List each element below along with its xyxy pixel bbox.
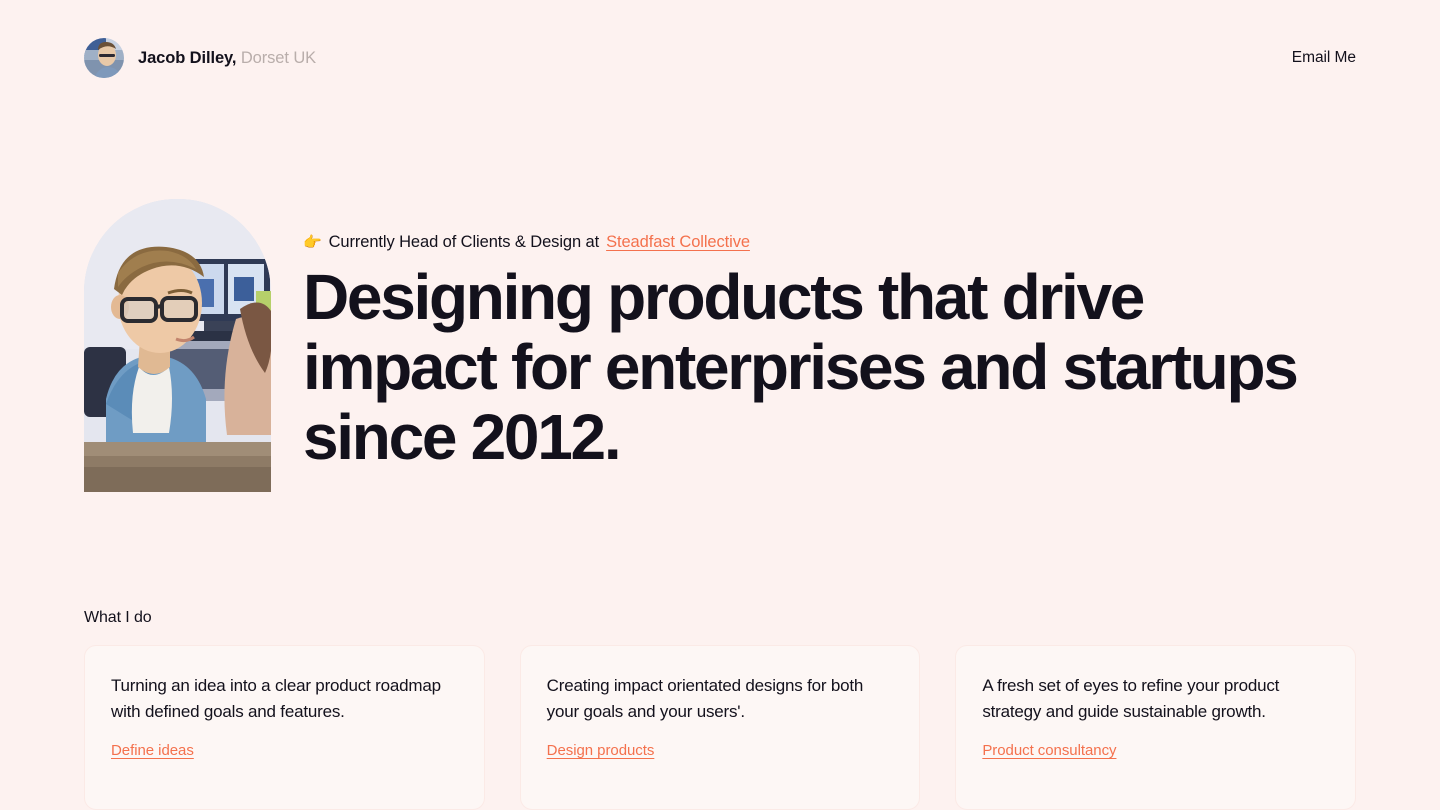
hero-copy: 👉 Currently Head of Clients & Design at … — [303, 199, 1356, 472]
design-products-link[interactable]: Design products — [547, 742, 655, 759]
steadfast-collective-link[interactable]: Steadfast Collective — [606, 232, 750, 253]
identity-block[interactable]: Jacob Dilley, Dorset UK — [84, 38, 316, 78]
site-header: Jacob Dilley, Dorset UK Email Me — [84, 38, 1356, 78]
pointing-hand-icon: 👉 — [303, 235, 322, 250]
service-card-text: Turning an idea into a clear product roa… — [111, 673, 458, 724]
hero-eyebrow-text: Currently Head of Clients & Design at — [329, 232, 600, 253]
define-ideas-link[interactable]: Define ideas — [111, 742, 194, 759]
avatar — [84, 38, 124, 78]
what-i-do-cards: Turning an idea into a clear product roa… — [84, 645, 1356, 810]
service-card-design-products[interactable]: Creating impact orientated designs for b… — [520, 645, 921, 810]
page-title: Designing products that drive impact for… — [303, 262, 1313, 472]
identity-text: Jacob Dilley, Dorset UK — [138, 49, 316, 68]
hero-photo — [84, 199, 271, 492]
email-me-link[interactable]: Email Me — [1292, 49, 1356, 67]
service-card-text: A fresh set of eyes to refine your produ… — [982, 673, 1329, 724]
identity-location: Dorset UK — [241, 49, 316, 67]
service-card-define-ideas[interactable]: Turning an idea into a clear product roa… — [84, 645, 485, 810]
service-card-text: Creating impact orientated designs for b… — [547, 673, 894, 724]
identity-name: Jacob Dilley, — [138, 49, 236, 67]
service-card-product-consultancy[interactable]: A fresh set of eyes to refine your produ… — [955, 645, 1356, 810]
product-consultancy-link[interactable]: Product consultancy — [982, 742, 1116, 759]
what-i-do-label: What I do — [84, 609, 152, 627]
page-root: Jacob Dilley, Dorset UK Email Me — [0, 0, 1440, 810]
hero-eyebrow: 👉 Currently Head of Clients & Design at … — [303, 232, 1356, 253]
hero-section: 👉 Currently Head of Clients & Design at … — [84, 199, 1356, 492]
